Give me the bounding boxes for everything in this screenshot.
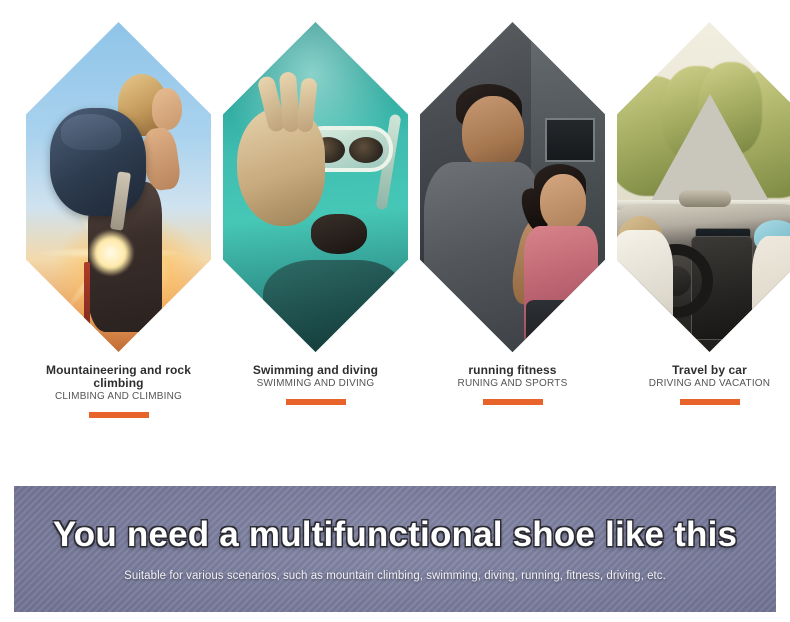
banner-headline: You need a multifunctional shoe like thi… (53, 515, 737, 555)
caption-subtitle: RUNING AND SPORTS (420, 378, 605, 390)
hexagon-clip-running (420, 22, 605, 352)
scenario-card-climbing[interactable]: Mountaineering and rock climbing CLIMBIN… (26, 0, 211, 418)
promo-banner: You need a multifunctional shoe like thi… (14, 486, 776, 612)
hexagon-image-frame-diving (223, 22, 408, 352)
caption-climbing: Mountaineering and rock climbing CLIMBIN… (26, 364, 211, 418)
scenario-card-running[interactable]: running fitness RUNING AND SPORTS (420, 0, 605, 405)
running-fitness-photo (420, 22, 605, 352)
scenario-grid: Mountaineering and rock climbing CLIMBIN… (0, 0, 790, 460)
climber-face (152, 88, 182, 130)
hexagon-clip-diving (223, 22, 408, 352)
female-runner-shorts (526, 300, 598, 352)
mountaineering-photo (26, 22, 211, 352)
water-bubble (373, 306, 381, 314)
scuba-diving-photo (223, 22, 408, 352)
caption-title: running fitness (420, 364, 605, 377)
gym-window (545, 118, 595, 162)
diver-body (263, 260, 403, 352)
backpack-lid (61, 114, 121, 150)
banner-subtitle: Suitable for various scenarios, such as … (124, 569, 666, 584)
hexagon-image-frame-car-travel (617, 22, 790, 352)
car-travel-photo (617, 22, 790, 352)
male-runner-head (462, 96, 524, 170)
rearview-mirror (679, 190, 731, 207)
hexagon-clip-car-travel (617, 22, 790, 352)
water-bubble (247, 50, 254, 57)
hexagon-image-frame-climbing (26, 22, 211, 352)
scenario-card-diving[interactable]: Swimming and diving SWIMMING AND DIVING (223, 0, 408, 405)
mask-lens-right (349, 137, 383, 163)
water-bubble (365, 64, 370, 69)
female-runner-top (524, 226, 598, 352)
caption-subtitle: DRIVING AND VACATION (617, 378, 790, 390)
caption-title: Swimming and diving (223, 364, 408, 377)
gym-equipment (428, 326, 474, 338)
hexagon-image-frame-running (420, 22, 605, 352)
caption-car-travel: Travel by car DRIVING AND VACATION (617, 364, 790, 405)
banner-content: You need a multifunctional shoe like thi… (14, 486, 776, 612)
caption-running: running fitness RUNING AND SPORTS (420, 364, 605, 405)
regulator-mouthpiece (311, 214, 367, 254)
caption-subtitle: CLIMBING AND CLIMBING (26, 391, 211, 403)
caption-title: Travel by car (617, 364, 790, 377)
trekking-pole (84, 262, 90, 332)
scenario-card-car-travel[interactable]: Travel by car DRIVING AND VACATION (617, 0, 790, 405)
hexagon-clip-climbing (26, 22, 211, 352)
caption-diving: Swimming and diving SWIMMING AND DIVING (223, 364, 408, 405)
caption-accent-rule (680, 399, 740, 405)
female-runner-head (540, 174, 586, 230)
sun-icon (88, 230, 134, 276)
driver-body (617, 230, 673, 352)
caption-accent-rule (89, 412, 149, 418)
passenger-body (752, 236, 790, 352)
caption-accent-rule (286, 399, 346, 405)
caption-accent-rule (483, 399, 543, 405)
caption-subtitle: SWIMMING AND DIVING (223, 378, 408, 390)
caption-title: Mountaineering and rock climbing (26, 364, 211, 390)
